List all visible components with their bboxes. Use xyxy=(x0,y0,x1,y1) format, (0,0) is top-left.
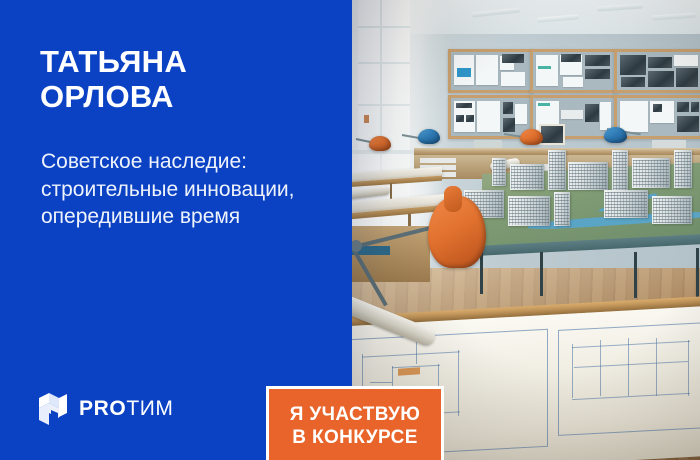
model-building-6 xyxy=(632,158,670,188)
bp-line-10 xyxy=(416,342,417,364)
window-mullion-h2 xyxy=(358,62,410,64)
speaker-name-line-1: ТАТЬЯНА xyxy=(40,44,340,79)
speaker-name-line-2: ОРЛОВА xyxy=(40,79,340,114)
bp-r-line-5 xyxy=(600,340,601,396)
pinboard-top-1 xyxy=(448,49,533,93)
bp-r-line-6 xyxy=(628,338,629,396)
model-building-3 xyxy=(548,150,566,190)
window-mullion-h3 xyxy=(358,104,410,106)
pinboard-top-2 xyxy=(530,49,617,93)
bp-r-line-3 xyxy=(688,340,689,396)
protim-logo-text: PROТИМ xyxy=(79,397,174,421)
contest-participation-badge: Я УЧАСТВУЮ В КОНКУРСЕ xyxy=(266,386,444,460)
model-building-12 xyxy=(652,196,692,224)
logo-text-tim: ТИМ xyxy=(126,397,173,420)
wall-switch xyxy=(364,115,369,123)
talk-title: Советское наследие: строительные инновац… xyxy=(41,148,331,231)
shelf-box-1 xyxy=(474,140,502,148)
pinboard-bottom-1 xyxy=(448,95,533,139)
model-building-5 xyxy=(612,150,628,192)
logo-text-pro: PRO xyxy=(79,397,126,420)
bp-line-3 xyxy=(458,350,459,416)
model-building-1 xyxy=(492,158,506,186)
protim-logo[interactable]: PROТИМ xyxy=(38,392,174,426)
speaker-announcement-banner: ТАТЬЯНА ОРЛОВА Советское наследие: строи… xyxy=(0,0,700,460)
protim-logo-icon xyxy=(38,392,68,426)
shelf-books-1 xyxy=(420,158,456,163)
desk-lamp-blue-left xyxy=(418,129,440,144)
model-table-leg-4 xyxy=(696,248,699,298)
bp-r-line-7 xyxy=(656,338,657,396)
model-table-leg-3 xyxy=(634,252,637,298)
pinned-photo-on-wall xyxy=(539,124,565,145)
desk-lamp-orange-left xyxy=(369,136,391,151)
badge-line-2: В КОНКУРСЕ xyxy=(292,427,418,449)
badge-line-1: Я УЧАСТВУЮ xyxy=(290,404,421,426)
shelf-box-3 xyxy=(652,140,686,148)
model-table-leg-2 xyxy=(540,252,543,296)
desk-lamp-blue-right xyxy=(604,127,627,143)
bp-r-line-2 xyxy=(572,344,573,398)
model-building-9 xyxy=(508,196,550,226)
model-building-2 xyxy=(510,164,544,190)
pinboard-top-3 xyxy=(614,49,700,93)
window-mullion-h1 xyxy=(358,26,410,28)
bp-line-9 xyxy=(370,382,392,383)
speaker-name: ТАТЬЯНА ОРЛОВА xyxy=(40,44,340,115)
blueprint-sheet-right xyxy=(558,322,700,436)
desk-lamp-orange-mid xyxy=(520,129,543,145)
model-building-7 xyxy=(674,150,692,188)
model-building-10 xyxy=(554,192,570,226)
foreground-lamp-neck xyxy=(444,186,462,212)
model-building-4 xyxy=(568,162,608,190)
model-building-11 xyxy=(604,190,648,218)
